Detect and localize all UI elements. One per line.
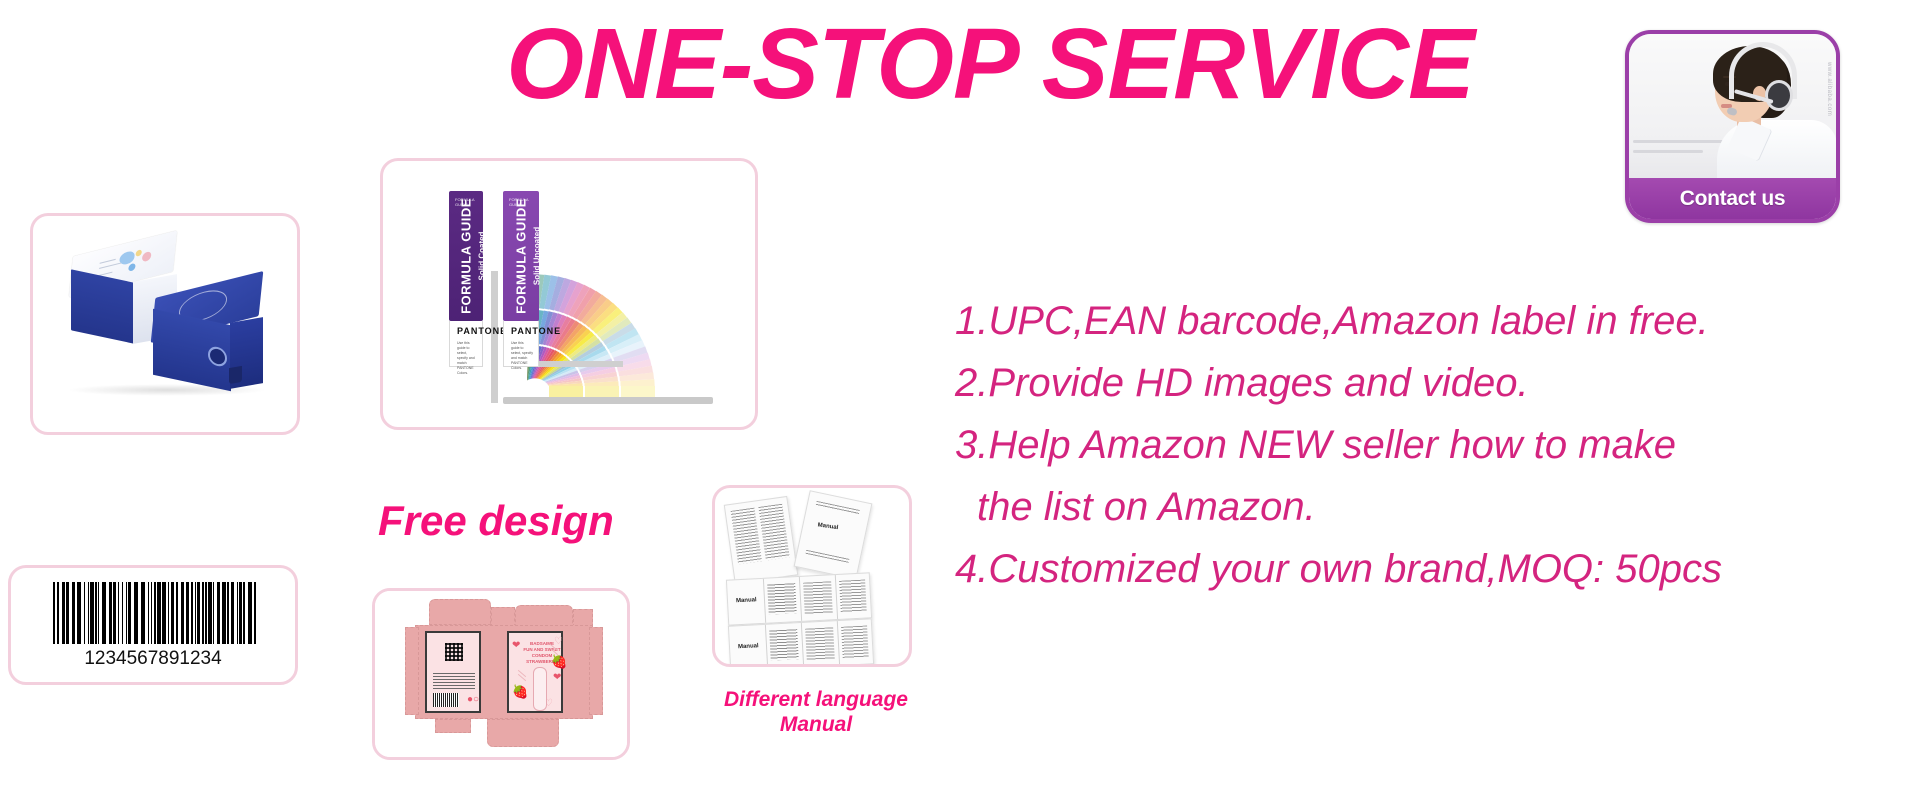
feature-line: 2.Provide HD images and video. — [955, 352, 1900, 414]
photo-watermark: www.alibaba.com — [1826, 62, 1832, 116]
pantone-brand: PANTONE — [511, 326, 561, 336]
pantone-fine-print: Use this guide to select, specify and ma… — [511, 341, 533, 371]
dieline-front-face: BADSAIME FUN AND SWEET CONDOM STRAWBERRY… — [507, 631, 563, 713]
manual-leaflet: Manual — [726, 572, 872, 625]
deck-subtitle: Solid Uncoated — [533, 227, 542, 285]
barcode-graphic — [53, 582, 259, 644]
feature-line: 3.Help Amazon NEW seller how to make — [955, 414, 1900, 476]
feature-line: 4.Customized your own brand,MOQ: 50pcs — [955, 538, 1900, 600]
dieline-flap — [491, 607, 515, 627]
manual-leaflet: Manual — [728, 618, 874, 667]
dieline-image: ●○ BADSAIME FUN AND SWEET CONDOM STRAWBE… — [375, 591, 627, 757]
manual-image: Manual Manual Manual — [715, 488, 909, 664]
deck-subtitle: Solid Coated — [478, 232, 487, 281]
dieline-barcode-icon — [433, 693, 459, 707]
manual-sheet-label: Manual — [736, 597, 757, 604]
blue-box-pull-tab — [229, 366, 242, 384]
manual-sheet — [724, 496, 799, 584]
manual-caption-line-1: Different language — [724, 688, 908, 711]
manual-sheet-label: Manual — [738, 643, 759, 650]
free-design-caption: Free design — [378, 497, 614, 545]
page-title: ONE-STOP SERVICE — [500, 12, 1480, 116]
white-box-front — [71, 269, 134, 343]
red-seal-icon — [142, 251, 152, 262]
pantone-fan-deck-card: FORMULA GUIDE FORMULA GUIDE Solid Coated… — [380, 158, 758, 430]
manual-cover-sheet: Manual — [794, 490, 873, 580]
manual-caption: Different language Manual — [700, 687, 932, 737]
gift-box-image — [33, 216, 297, 432]
feature-line: 1.UPC,EAN barcode,Amazon label in free. — [955, 290, 1900, 352]
one-stop-service-banner: ONE-STOP SERVICE — [0, 0, 1920, 800]
yellow-dot-icon — [135, 249, 142, 257]
lid-line — [99, 262, 121, 269]
dieline-title-line: CONDOM — [532, 653, 553, 658]
dieline-side-flap — [405, 627, 419, 715]
blue-dot-icon — [128, 263, 136, 272]
customer-service-agent-photo: www.alibaba.com — [1629, 34, 1836, 186]
barcode-number: 1234567891234 — [11, 648, 295, 670]
deck-title: FORMULA GUIDE — [514, 198, 529, 314]
dieline-flap — [487, 719, 559, 747]
manual-sheet-label: Manual — [817, 522, 838, 531]
dieline-flap — [429, 599, 491, 625]
features-list: 1.UPC,EAN barcode,Amazon label in free.2… — [955, 290, 1900, 600]
pantone-deck-coated-footer: PANTONE Use this guide to select, specif… — [449, 321, 483, 367]
pantone-deck-uncoated: FORMULA GUIDE FORMULA GUIDE Solid Uncoat… — [503, 191, 539, 321]
barcode-card: 1234567891234 — [8, 565, 298, 685]
pantone-image: FORMULA GUIDE FORMULA GUIDE Solid Coated… — [383, 161, 755, 427]
pantone-deck-uncoated-footer: PANTONE Use this guide to select, specif… — [503, 321, 539, 367]
deck-title: FORMULA GUIDE — [459, 198, 474, 314]
contact-us-label: Contact us — [1680, 187, 1786, 211]
dieline-flap — [515, 605, 573, 627]
contact-us-widget[interactable]: www.alibaba.com Contact us — [1625, 30, 1840, 223]
gift-box-photo-card — [30, 213, 300, 435]
manual-caption-line-2: Manual — [780, 713, 852, 736]
feature-line: the list on Amazon. — [955, 476, 1900, 538]
dieline-legal-text — [433, 673, 475, 689]
dieline-artwork-card: ●○ BADSAIME FUN AND SWEET CONDOM STRAWBE… — [372, 588, 630, 760]
headset-earcup-icon — [1765, 80, 1793, 111]
pantone-brand: PANTONE — [457, 326, 507, 336]
product-illustration — [533, 667, 547, 711]
pantone-fine-print: Use this guide to select, specify and ma… — [457, 341, 477, 376]
qr-code-icon — [445, 643, 463, 661]
deck-stem — [491, 271, 498, 403]
pantone-base-bar — [503, 397, 713, 404]
dieline-back-face: ●○ — [425, 631, 481, 713]
dieline-flap — [435, 719, 471, 733]
dieline-side-flap — [589, 627, 603, 715]
contact-us-button[interactable]: Contact us — [1629, 178, 1836, 219]
manual-photo-card: Manual Manual Manual — [712, 485, 912, 667]
pantone-deck-coated: FORMULA GUIDE FORMULA GUIDE Solid Coated — [449, 191, 483, 321]
lid-line — [100, 259, 116, 264]
